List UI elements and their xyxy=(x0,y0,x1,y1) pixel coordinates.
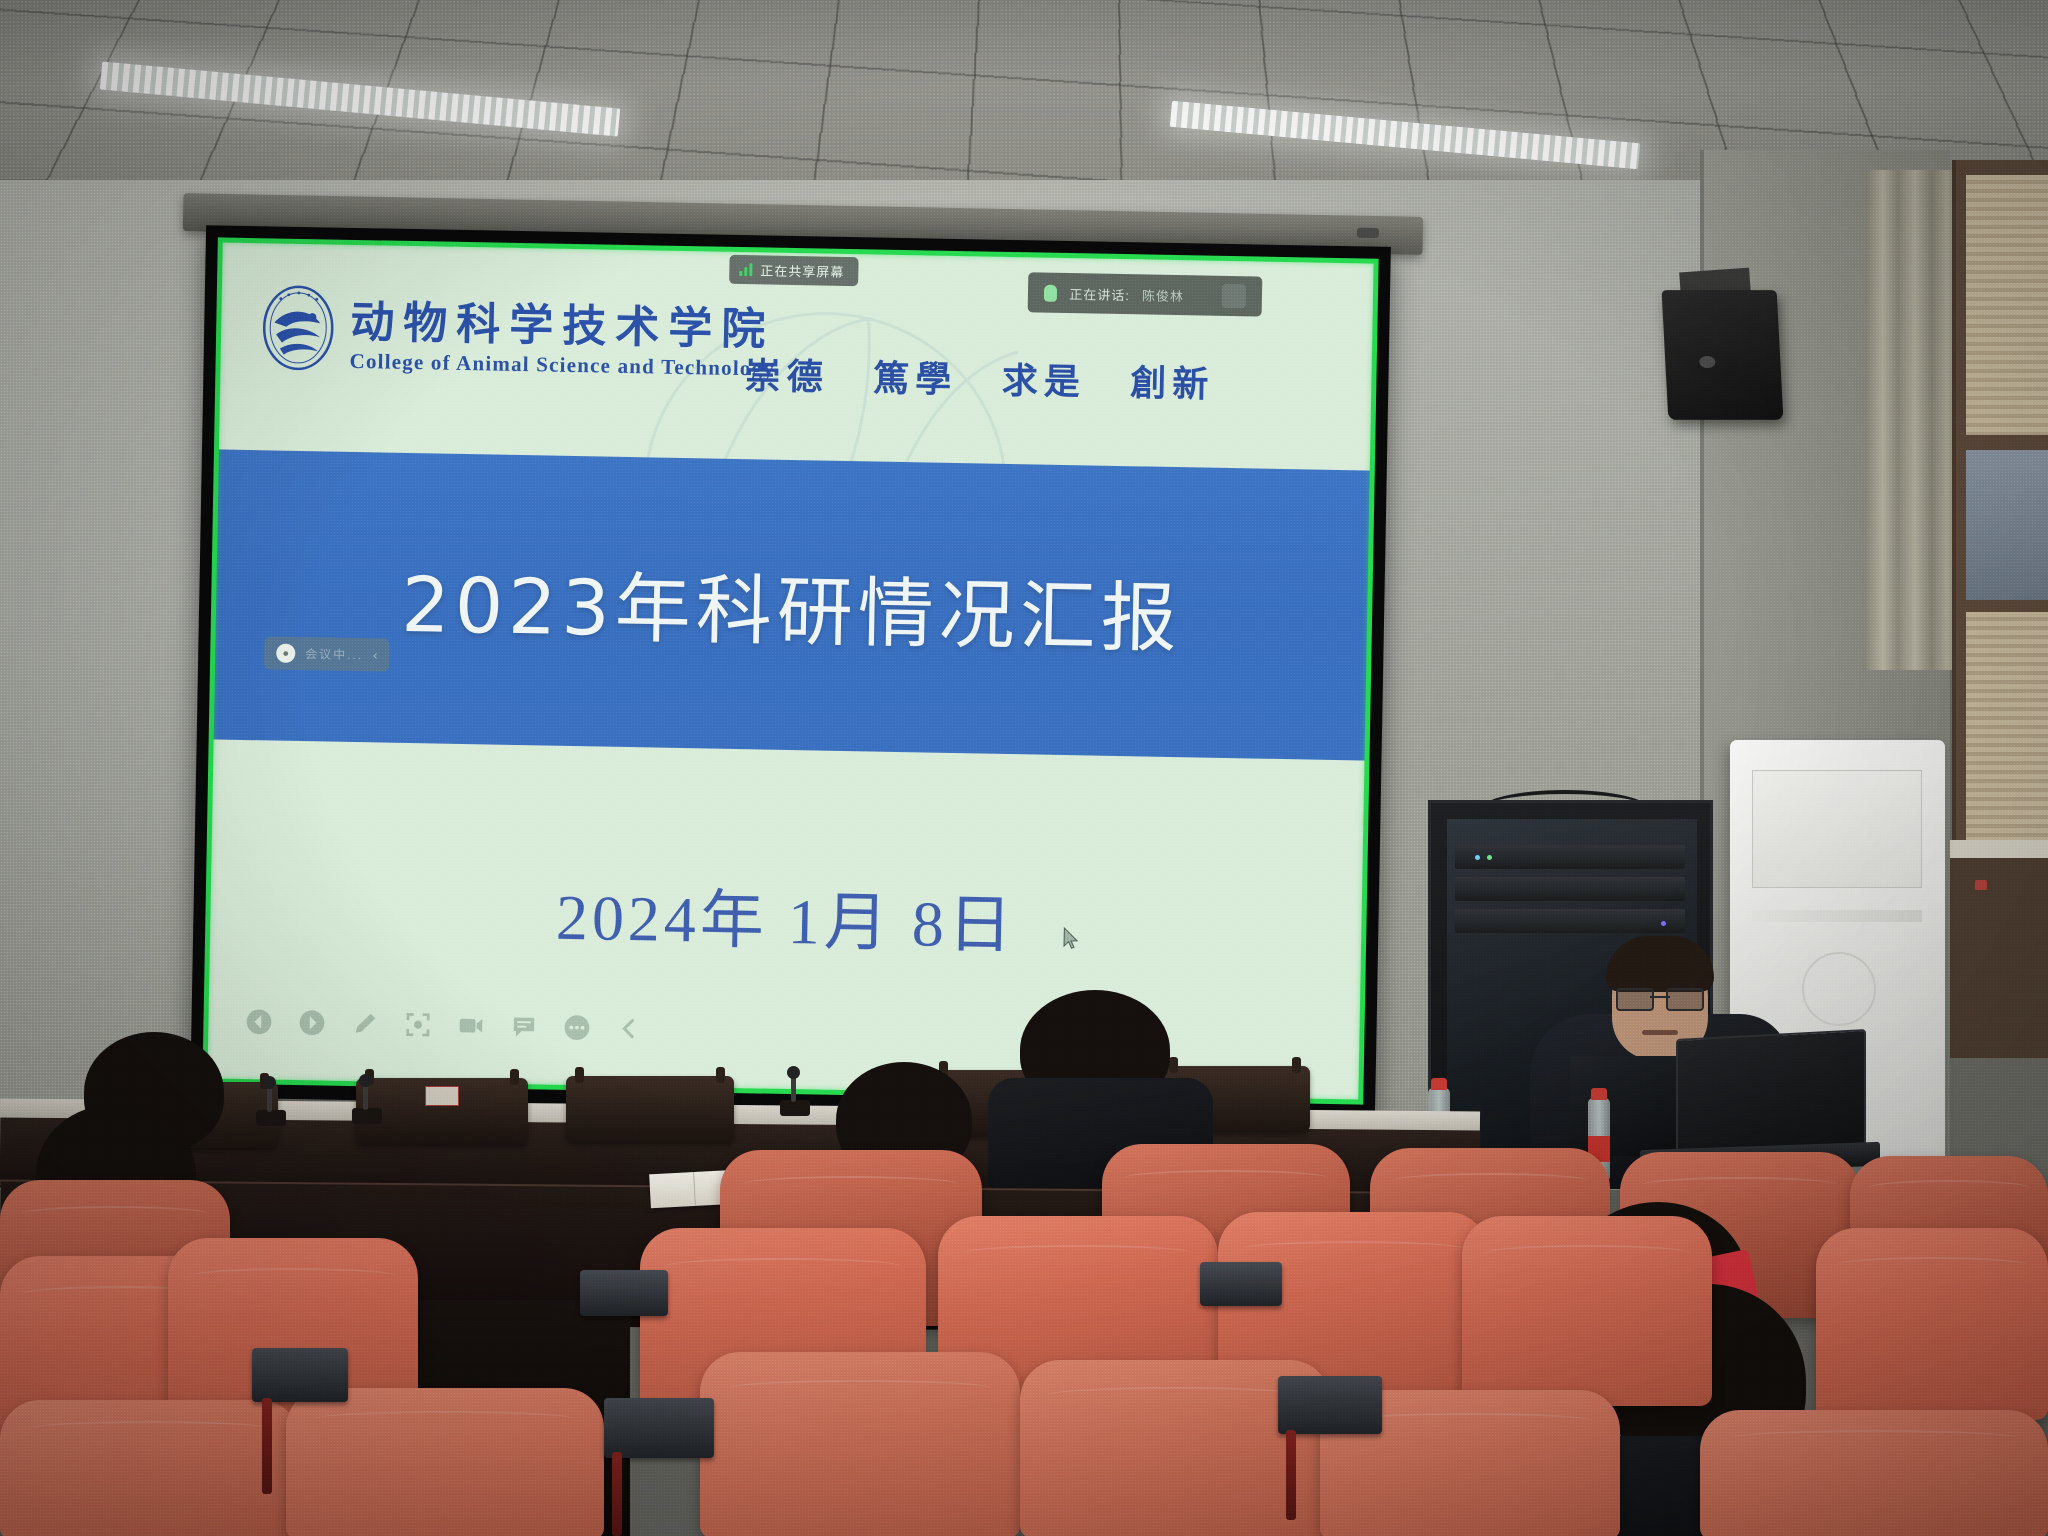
rack-led-icon xyxy=(1475,855,1480,860)
seat-armrest xyxy=(580,1270,668,1316)
chevron-left-circle-icon[interactable] xyxy=(245,1008,272,1035)
auditorium-seat-icon xyxy=(700,1352,1020,1536)
magnify-frame-icon[interactable] xyxy=(404,1011,431,1038)
chevron-right-circle-icon[interactable] xyxy=(298,1009,325,1036)
meeting-mini-label: 会议中... xyxy=(305,645,363,663)
window-glass xyxy=(1966,450,2048,600)
rack-led-icon xyxy=(1661,921,1666,926)
window-sill xyxy=(1950,840,2048,858)
laptop-icon xyxy=(1676,1029,1866,1159)
ac-vent xyxy=(1752,770,1922,888)
microphone-icon[interactable] xyxy=(1044,284,1057,301)
seat-arm-support xyxy=(612,1452,622,1536)
participant-avatar-icon[interactable] xyxy=(1222,284,1246,308)
projection-screen[interactable]: 动物科学技术学院 College of Animal Science and T… xyxy=(190,225,1391,1119)
auditorium-seat-icon xyxy=(1462,1216,1712,1406)
slide-surface[interactable]: 动物科学技术学院 College of Animal Science and T… xyxy=(204,239,1376,1102)
speaking-status-label: 正在讲话: xyxy=(1069,284,1130,304)
college-name-block: 动物科学技术学院 College of Animal Science and T… xyxy=(349,300,776,382)
motto-word-4: 創新 xyxy=(1130,363,1215,406)
gooseneck-microphone-icon xyxy=(352,1108,382,1124)
pen-icon[interactable] xyxy=(351,1010,378,1037)
seat-armrest xyxy=(1278,1376,1382,1434)
presenter-hair xyxy=(1606,936,1714,992)
window-lower-panel xyxy=(1950,858,2048,1058)
meeting-float-toolbar[interactable]: 正在讲话: 陈俊林 xyxy=(1028,272,1262,316)
seat-arm-support xyxy=(1286,1430,1296,1520)
mouse-pointer-icon xyxy=(1063,927,1080,951)
auditorium-seat-icon xyxy=(1700,1410,2048,1536)
motto-word-1: 崇德 xyxy=(744,356,829,399)
ac-fan-outlet xyxy=(1802,952,1876,1026)
window-blinds-icon xyxy=(1966,175,2048,435)
slide-date: 2024年 1月 8日 xyxy=(207,859,1365,972)
seat-arm-support xyxy=(262,1398,272,1494)
auditorium-seat-icon xyxy=(286,1388,604,1536)
rack-unit xyxy=(1455,877,1685,901)
seat-armrest xyxy=(252,1348,348,1402)
seat-armrest xyxy=(604,1398,714,1458)
chevron-left-icon[interactable]: ‹ xyxy=(373,647,378,662)
gooseneck-microphone-icon xyxy=(780,1100,810,1116)
front-row-chair xyxy=(566,1076,734,1142)
screen-share-badge[interactable]: 正在共享屏幕 xyxy=(729,255,859,286)
wall-speaker-icon xyxy=(1662,290,1784,420)
curtain-icon xyxy=(1866,170,1960,670)
gooseneck-microphone-icon xyxy=(256,1110,286,1126)
chevron-left-icon[interactable] xyxy=(616,1015,643,1042)
motto-word-2: 篤學 xyxy=(873,358,958,401)
college-motto: 崇德 篤學 求是 創新 xyxy=(744,347,1241,408)
screen-roller-knob xyxy=(1357,228,1379,238)
active-speaker-name: 陈俊林 xyxy=(1142,285,1184,305)
rack-led-icon xyxy=(1487,855,1492,860)
name-card-icon xyxy=(425,1086,459,1106)
university-emblem-icon xyxy=(257,282,339,373)
signal-bars-icon xyxy=(739,263,752,276)
auditorium-seat-icon xyxy=(1816,1228,2048,1420)
caption-icon[interactable] xyxy=(510,1013,537,1040)
eyeglasses-icon xyxy=(1616,988,1704,1007)
presenter-mouth xyxy=(1642,1030,1678,1035)
ppt-slideshow-toolbar[interactable] xyxy=(245,1008,643,1042)
window-latch-icon xyxy=(1975,880,1987,890)
seat-armrest xyxy=(1200,1262,1282,1306)
ac-display-panel xyxy=(1752,910,1922,922)
monitor-icon[interactable] xyxy=(457,1012,484,1039)
user-badge-icon[interactable]: ● xyxy=(276,644,295,663)
ellipsis-circle-icon[interactable] xyxy=(563,1014,590,1041)
window-blinds-icon xyxy=(1966,612,2048,842)
screen-share-label: 正在共享屏幕 xyxy=(760,260,844,281)
meeting-mini-toolbar[interactable]: ● 会议中... ‹ xyxy=(264,636,390,671)
lecture-hall-scene: 动物科学技术学院 College of Animal Science and T… xyxy=(0,0,2048,1536)
auditorium-seat-icon xyxy=(0,1400,300,1536)
college-logo-block: 动物科学技术学院 College of Animal Science and T… xyxy=(257,282,776,381)
projected-image[interactable]: 动物科学技术学院 College of Animal Science and T… xyxy=(190,225,1391,1119)
slide-title-band: 2023年科研情况汇报 xyxy=(211,449,1373,760)
motto-word-3: 求是 xyxy=(1001,361,1086,404)
monitor-icon xyxy=(1570,1056,1680,1156)
college-name-cn: 动物科学技术学院 xyxy=(350,300,776,354)
